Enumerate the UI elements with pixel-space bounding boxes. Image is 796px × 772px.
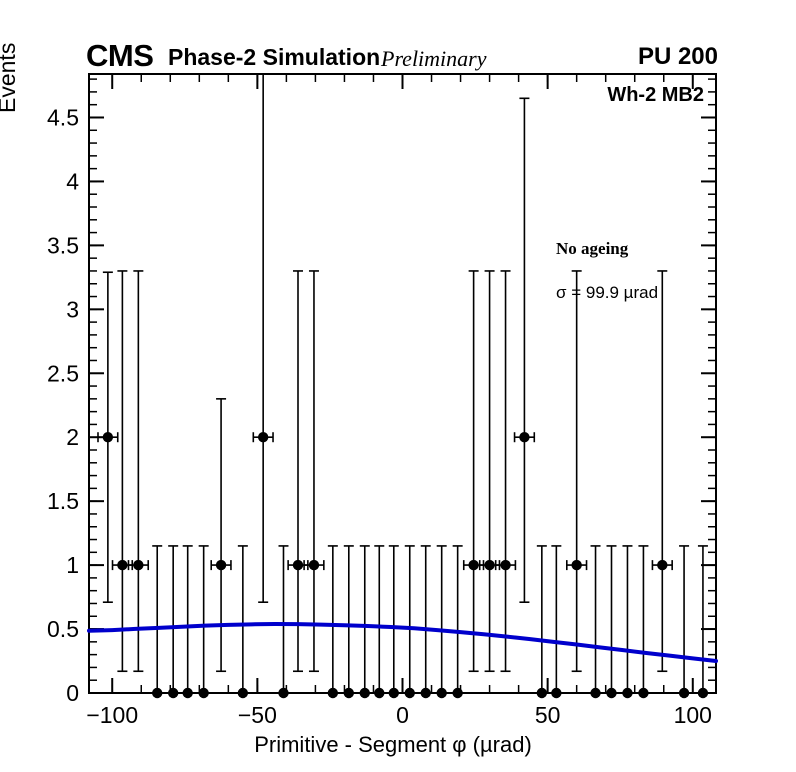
data-point — [293, 560, 303, 570]
svg-text:4: 4 — [66, 168, 79, 194]
data-point — [103, 432, 113, 442]
svg-text:4.5: 4.5 — [47, 104, 79, 130]
data-point — [606, 688, 616, 698]
svg-text:3.5: 3.5 — [47, 232, 79, 258]
data-point — [344, 688, 354, 698]
x-axis-ticks — [112, 74, 693, 693]
data-point — [405, 688, 415, 698]
data-point — [638, 688, 648, 698]
svg-text:2: 2 — [66, 424, 79, 450]
data-point — [679, 688, 689, 698]
data-point — [519, 432, 529, 442]
data-point — [622, 688, 632, 698]
data-point — [374, 688, 384, 698]
data-point — [309, 560, 319, 570]
plot-frame — [89, 74, 716, 693]
data-point — [168, 688, 178, 698]
data-point — [328, 688, 338, 698]
data-point — [590, 688, 600, 698]
svg-text:2.5: 2.5 — [47, 360, 79, 386]
data-markers — [103, 432, 708, 698]
data-point — [484, 560, 494, 570]
data-point — [551, 688, 561, 698]
data-point — [238, 688, 248, 698]
data-point — [182, 688, 192, 698]
y-axis-ticks — [89, 79, 716, 693]
error-bars — [98, 74, 708, 693]
data-point — [152, 688, 162, 698]
data-point — [258, 432, 268, 442]
scatter-plot-area: −100−50050100 00.511.522.533.544.5 — [0, 0, 796, 772]
data-point — [421, 688, 431, 698]
svg-text:0.5: 0.5 — [47, 616, 79, 642]
svg-text:100: 100 — [674, 702, 712, 728]
data-point — [468, 560, 478, 570]
svg-text:0: 0 — [396, 702, 409, 728]
data-point — [452, 688, 462, 698]
x-tick-labels: −100−50050100 — [86, 702, 712, 728]
data-point — [698, 688, 708, 698]
svg-text:−100: −100 — [86, 702, 138, 728]
svg-text:−50: −50 — [238, 702, 277, 728]
gaussian-fit-curve — [89, 624, 716, 661]
data-point — [133, 560, 143, 570]
svg-text:1.5: 1.5 — [47, 488, 79, 514]
svg-text:3: 3 — [66, 296, 79, 322]
plot-canvas: CMS Phase-2 Simulation Preliminary PU 20… — [0, 0, 796, 772]
data-point — [389, 688, 399, 698]
data-point — [500, 560, 510, 570]
data-point — [198, 688, 208, 698]
data-point — [360, 688, 370, 698]
svg-text:1: 1 — [66, 552, 79, 578]
svg-text:50: 50 — [535, 702, 561, 728]
data-point — [571, 560, 581, 570]
svg-text:0: 0 — [66, 680, 79, 706]
data-point — [278, 688, 288, 698]
data-point — [216, 560, 226, 570]
data-point — [657, 560, 667, 570]
data-point — [436, 688, 446, 698]
data-point — [537, 688, 547, 698]
y-tick-labels: 00.511.522.533.544.5 — [47, 104, 79, 706]
data-point — [117, 560, 127, 570]
